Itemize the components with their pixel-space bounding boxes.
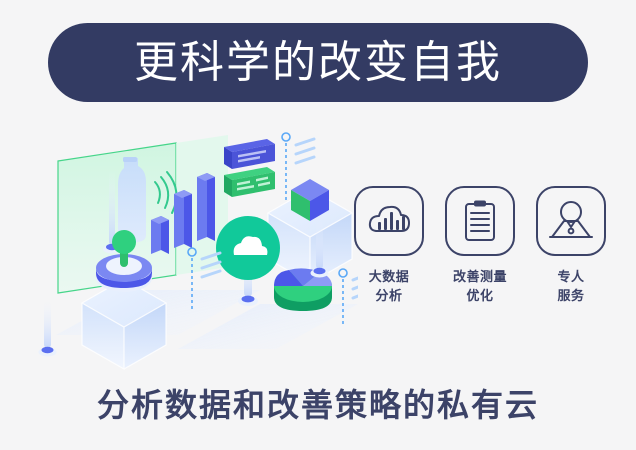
clipboard-icon: [461, 199, 499, 243]
feature-label-line2: 优化: [453, 288, 507, 307]
metrics-card: [224, 167, 275, 197]
feature-big-data-analysis[interactable]: 大数据 分析: [350, 186, 428, 307]
feature-label-improvement-measurement: 改善测量 优化: [453, 269, 507, 307]
hero-illustration: [28, 125, 358, 370]
support-person-icon-frame: [536, 186, 606, 256]
feature-label-line1: 改善测量: [453, 269, 507, 288]
cloud-bar-chart-icon-frame: [354, 186, 424, 256]
feature-label-line1: 专人: [557, 269, 584, 288]
feature-list: 大数据 分析 改善测量 优化: [350, 186, 610, 331]
feature-label-dedicated-service: 专人 服务: [557, 269, 584, 307]
cloud-bar-chart-icon: [367, 201, 411, 241]
support-person-icon: [548, 199, 594, 243]
feature-label-line1: 大数据: [369, 269, 410, 288]
feature-improvement-measurement[interactable]: 改善测量 优化: [441, 186, 519, 307]
feature-label-line2: 分析: [369, 288, 410, 307]
page-tagline: 分析数据和改善策略的私有云: [0, 380, 636, 426]
find-my-data-card: [224, 139, 275, 169]
pin-rod-far-left: [39, 300, 57, 357]
header-banner: 更科学的改变自我: [48, 23, 588, 102]
clipboard-icon-frame: [445, 186, 515, 256]
feature-label-line2: 服务: [557, 288, 584, 307]
poster-canvas: 更科学的改变自我: [0, 0, 636, 450]
feature-dedicated-service[interactable]: 专人 服务: [532, 186, 610, 307]
banner-title: 更科学的改变自我: [134, 41, 502, 85]
feature-label-big-data-analysis: 大数据 分析: [369, 269, 410, 307]
